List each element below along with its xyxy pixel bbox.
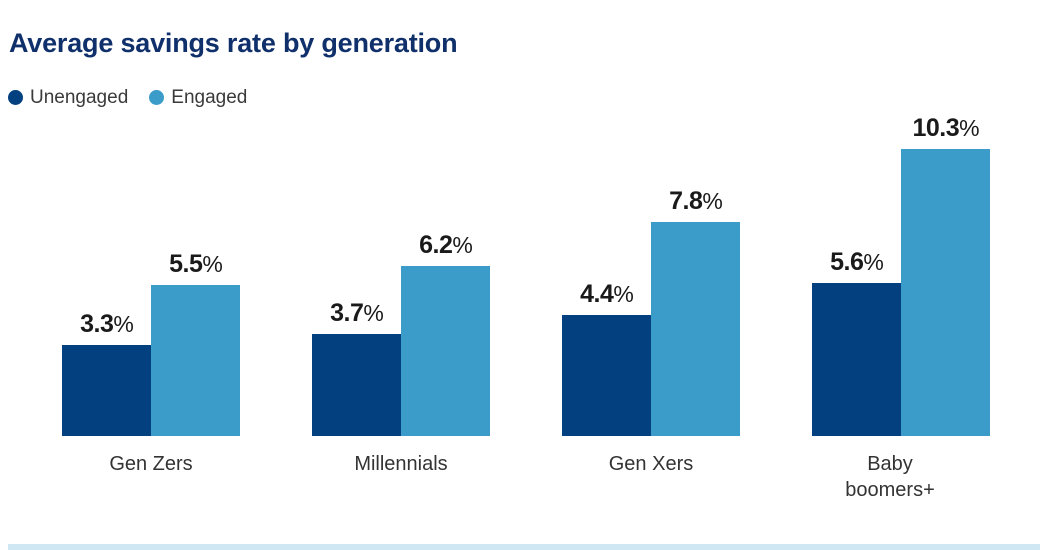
percent-sign: % xyxy=(363,300,383,326)
x-axis-category-labels: Gen Zers Millennials Gen Xers Baby boome… xyxy=(0,444,1050,534)
percent-sign: % xyxy=(863,249,883,275)
category-label-millennials: Millennials xyxy=(301,452,501,478)
bar-value-number: 3.7 xyxy=(330,299,363,327)
legend-item-unengaged[interactable]: Unengaged xyxy=(8,88,128,107)
plot-area: 3.3% 5.5% 3.7% 6.2% xyxy=(0,110,1050,436)
percent-sign: % xyxy=(702,188,722,214)
bar-label-unengaged-gen-xers: 4.4% xyxy=(537,282,677,307)
percent-sign: % xyxy=(613,281,633,307)
category-label-baby-boomers: Baby boomers+ xyxy=(801,452,979,503)
bar-label-engaged-gen-zers: 5.5% xyxy=(126,252,266,277)
bar-label-engaged-baby-boomers: 10.3% xyxy=(876,116,1016,141)
bar-group-gen-xers: 4.4% 7.8% xyxy=(562,110,740,436)
bar-engaged-millennials[interactable] xyxy=(401,266,490,436)
x-axis-baseline xyxy=(8,544,1040,550)
bar-value-number: 4.4 xyxy=(580,280,613,308)
bar-value-number: 6.2 xyxy=(419,231,452,259)
bar-chart-figure: Average savings rate by generation Uneng… xyxy=(0,0,1050,538)
bar-label-unengaged-millennials: 3.7% xyxy=(287,301,427,326)
bar-unengaged-gen-xers[interactable] xyxy=(562,315,651,436)
bar-value-number: 7.8 xyxy=(669,187,702,215)
category-label-baby-boomers-text: Baby boomers+ xyxy=(828,452,953,503)
bar-label-unengaged-baby-boomers: 5.6% xyxy=(787,250,927,275)
bar-value-number: 5.5 xyxy=(169,250,202,278)
percent-sign: % xyxy=(452,232,472,258)
percent-sign: % xyxy=(959,115,979,141)
legend-item-engaged[interactable]: Engaged xyxy=(149,88,247,107)
bar-group-gen-zers: 3.3% 5.5% xyxy=(62,110,240,436)
bar-label-engaged-gen-xers: 7.8% xyxy=(626,189,766,214)
bar-group-millennials: 3.7% 6.2% xyxy=(312,110,490,436)
bar-unengaged-baby-boomers[interactable] xyxy=(812,283,901,436)
circle-marker-icon xyxy=(8,90,23,105)
chart-title: Average savings rate by generation xyxy=(9,28,457,59)
bar-value-number: 3.3 xyxy=(80,310,113,338)
bar-engaged-baby-boomers[interactable] xyxy=(901,149,990,436)
category-label-gen-zers: Gen Zers xyxy=(51,452,251,478)
percent-sign: % xyxy=(202,251,222,277)
legend-label-unengaged: Unengaged xyxy=(30,88,128,107)
bar-engaged-gen-zers[interactable] xyxy=(151,285,240,436)
bar-value-number: 5.6 xyxy=(830,248,863,276)
category-label-gen-xers: Gen Xers xyxy=(551,452,751,478)
bar-unengaged-millennials[interactable] xyxy=(312,334,401,436)
bar-label-engaged-millennials: 6.2% xyxy=(376,233,516,258)
legend-label-engaged: Engaged xyxy=(171,88,247,107)
bar-engaged-gen-xers[interactable] xyxy=(651,222,740,436)
chart-legend: Unengaged Engaged xyxy=(8,88,247,107)
bar-unengaged-gen-zers[interactable] xyxy=(62,345,151,436)
bar-group-baby-boomers: 5.6% 10.3% xyxy=(812,110,990,436)
percent-sign: % xyxy=(113,311,133,337)
bar-value-number: 10.3 xyxy=(912,114,959,142)
circle-marker-icon xyxy=(149,90,164,105)
bar-label-unengaged-gen-zers: 3.3% xyxy=(37,312,177,337)
